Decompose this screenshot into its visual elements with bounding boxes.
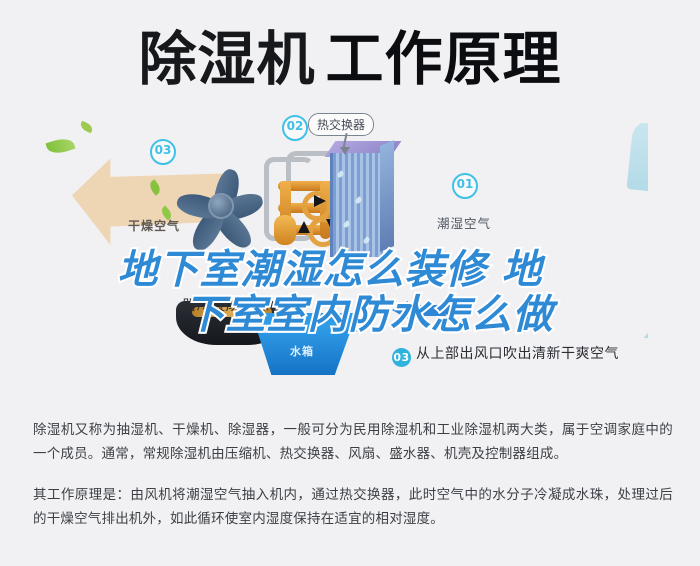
body-paragraph-1: 除湿机又称为抽湿机、干燥机、除湿器，一般可分为民用除湿机和工业除湿机两大类，属于… bbox=[33, 418, 673, 466]
intake-arrow-icon bbox=[392, 301, 450, 319]
badge-step-03: 03 bbox=[392, 348, 411, 367]
compressor-bulb bbox=[274, 215, 296, 245]
page-title-part2: 工作原理 bbox=[326, 25, 562, 93]
badge-step-03-diagram: 03 bbox=[150, 139, 176, 165]
callout-pointer-icon bbox=[340, 147, 350, 155]
water-tank: 水箱 bbox=[250, 313, 358, 375]
fan-hub bbox=[208, 193, 234, 219]
heat-exchanger-callout: 热交换器 bbox=[308, 113, 374, 136]
body-copy: 除湿机又称为抽湿机、干燥机、除湿器，一般可分为民用除湿机和工业除湿机两大类，属于… bbox=[33, 418, 673, 548]
heat-exchanger-fins bbox=[330, 153, 383, 257]
step-line-03-text: 从上部出风口吹出清新干爽空气 bbox=[416, 346, 619, 362]
leaf-icon bbox=[79, 121, 94, 134]
heat-exchanger-block bbox=[330, 149, 394, 261]
badge-step-01-diagram: 01 bbox=[452, 173, 478, 199]
fan-icon bbox=[178, 167, 274, 253]
intake-band-tail bbox=[626, 123, 648, 193]
step-line-03: 03从上部出风口吹出清新干爽空气 bbox=[392, 343, 619, 367]
leaf-icon bbox=[45, 135, 75, 157]
page-title-part1: 除湿机 bbox=[138, 25, 315, 93]
body-paragraph-2: 其工作原理是：由风机将潮湿空气抽入机内，通过热交换器，此时空气中的水分子冷凝成水… bbox=[33, 483, 673, 531]
step-line-02: 器冷凝成水珠 bbox=[182, 295, 269, 315]
badge-step-02-diagram: 02 bbox=[282, 115, 308, 141]
page-title: 除湿机工作原理 bbox=[0, 24, 700, 94]
partial-humid-label: 潮湿 bbox=[452, 261, 476, 277]
water-tank-label: 水箱 bbox=[290, 343, 314, 359]
arrow-up-icon bbox=[298, 221, 310, 233]
humid-air-label: 潮湿空气 bbox=[437, 213, 491, 232]
heat-exchanger-side bbox=[380, 140, 394, 252]
dry-air-label: 干燥空气 bbox=[128, 217, 180, 234]
dehumidifier-diagram: 干燥空气 bbox=[0, 105, 700, 405]
page-root: 除湿机工作原理 干燥空气 bbox=[0, 0, 700, 566]
arrow-shaft bbox=[406, 305, 450, 316]
arrow-right-icon bbox=[314, 195, 326, 207]
